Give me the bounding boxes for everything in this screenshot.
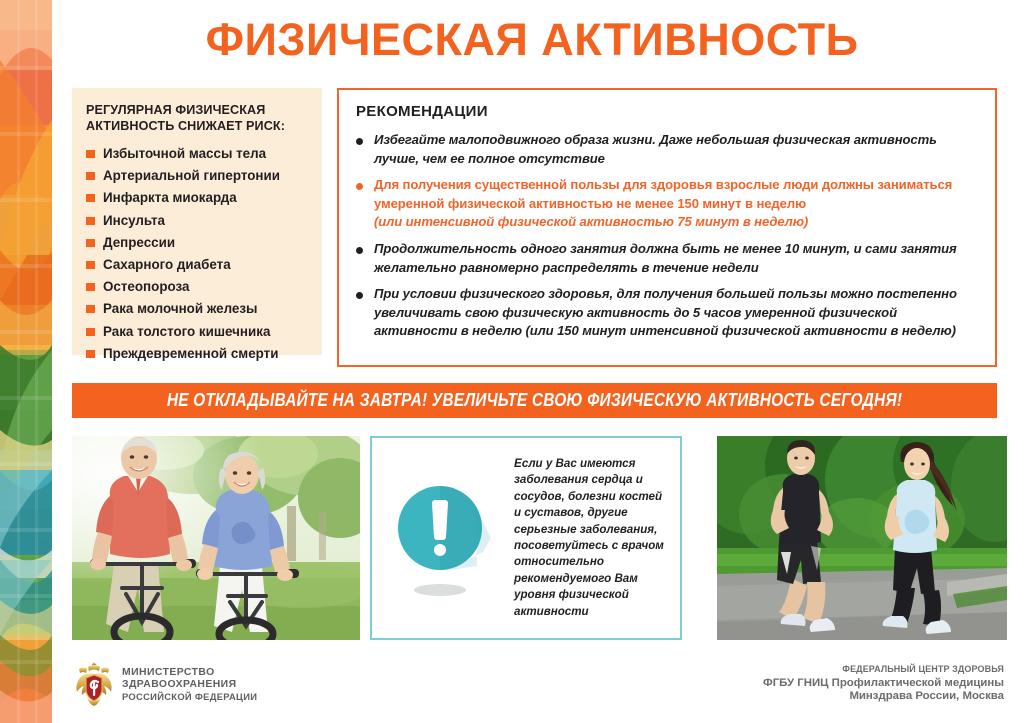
photo-couple-jogging xyxy=(717,436,1007,640)
recommendation-italic-note: (или интенсивной физической активностью … xyxy=(374,213,979,232)
list-item: Избыточной массы тела xyxy=(86,143,312,165)
list-item: Рака толстого кишечника xyxy=(86,321,312,343)
risk-list: Избыточной массы тела Артериальной гипер… xyxy=(86,143,312,365)
risk-item-label: Рака толстого кишечника xyxy=(103,321,270,343)
square-bullet-icon xyxy=(86,217,95,225)
round-bullet-icon xyxy=(356,247,363,254)
ministry-name: МИНИСТЕРСТВО ЗДРАВООХРАНЕНИЯ РОССИЙСКОЙ … xyxy=(122,667,257,704)
square-bullet-icon xyxy=(86,194,95,202)
call-to-action-banner: НЕ ОТКЛАДЫВАЙТЕ НА ЗАВТРА! УВЕЛИЧЬТЕ СВО… xyxy=(72,383,997,418)
recommendation-item: Продолжительность одного занятия должна … xyxy=(356,240,979,277)
medical-advice-callout: Если у Вас имеются заболевания сердца и … xyxy=(370,436,682,640)
round-bullet-icon xyxy=(356,183,363,190)
square-bullet-icon xyxy=(86,239,95,247)
list-item: Артериальной гипертонии xyxy=(86,165,312,187)
risk-item-label: Депрессии xyxy=(103,232,175,254)
credit-line-3: Минздрава России, Москва xyxy=(763,690,1004,704)
risk-item-label: Инфаркта миокарда xyxy=(103,187,237,209)
photo-senior-couple-cycling xyxy=(72,436,360,640)
recommendations-panel: РЕКОМЕНДАЦИИ Избегайте малоподвижного об… xyxy=(337,88,997,367)
list-item: Преждевременной смерти xyxy=(86,343,312,365)
list-item: Сахарного диабета xyxy=(86,254,312,276)
recommendation-main-text: Для получения существенной пользы для зд… xyxy=(374,177,952,211)
round-bullet-icon xyxy=(356,138,363,145)
list-item: Инфаркта миокарда xyxy=(86,187,312,209)
risk-item-label: Артериальной гипертонии xyxy=(103,165,280,187)
recommendation-text: Для получения существенной пользы для зд… xyxy=(374,176,979,232)
risk-item-label: Сахарного диабета xyxy=(103,254,231,276)
exclamation-circle-icon xyxy=(387,476,499,600)
round-bullet-icon xyxy=(356,292,363,299)
list-item: Депрессии xyxy=(86,232,312,254)
recommendation-text: При условии физического здоровья, для по… xyxy=(374,285,979,341)
square-bullet-icon xyxy=(86,350,95,358)
recommendation-item: Избегайте малоподвижного образа жизни. Д… xyxy=(356,131,979,168)
risk-item-label: Остеопороза xyxy=(103,276,189,298)
risk-item-label: Избыточной массы тела xyxy=(103,143,266,165)
ministry-line-1: МИНИСТЕРСТВО xyxy=(122,667,257,679)
risk-item-label: Преждевременной смерти xyxy=(103,343,278,365)
health-center-credit: ФЕДЕРАЛЬНЫЙ ЦЕНТР ЗДОРОВЬЯ ФГБУ ГНИЦ Про… xyxy=(763,663,1004,704)
list-item: Остеопороза xyxy=(86,276,312,298)
page-title: ФИЗИЧЕСКАЯ АКТИВНОСТЬ xyxy=(60,14,1004,66)
callout-icon-container xyxy=(372,476,514,600)
risk-item-label: Рака молочной железы xyxy=(103,298,257,320)
recommendation-text: Продолжительность одного занятия должна … xyxy=(374,240,979,277)
credit-line-2: ФГБУ ГНИЦ Профилактической медицины xyxy=(763,677,1004,691)
recommendation-text: Избегайте малоподвижного образа жизни. Д… xyxy=(374,131,979,168)
russian-federation-coat-of-arms-icon xyxy=(74,662,114,708)
callout-advice-text: Если у Вас имеются заболевания сердца и … xyxy=(514,456,680,620)
risk-item-label: Инсульта xyxy=(103,210,165,232)
ministry-line-2: ЗДРАВООХРАНЕНИЯ xyxy=(122,679,257,691)
decorative-edge-pattern xyxy=(0,0,52,723)
recommendations-heading: РЕКОМЕНДАЦИИ xyxy=(356,103,979,120)
square-bullet-icon xyxy=(86,283,95,291)
ministry-line-3: РОССИЙСКОЙ ФЕДЕРАЦИИ xyxy=(122,691,257,703)
square-bullet-icon xyxy=(86,172,95,180)
square-bullet-icon xyxy=(86,305,95,313)
call-to-action-text: НЕ ОТКЛАДЫВАЙТЕ НА ЗАВТРА! УВЕЛИЧЬТЕ СВО… xyxy=(167,390,902,411)
square-bullet-icon xyxy=(86,261,95,269)
risk-reduction-panel: РЕГУЛЯРНАЯ ФИЗИЧЕСКАЯ АКТИВНОСТЬ СНИЖАЕТ… xyxy=(72,88,322,355)
list-item: Рака молочной железы xyxy=(86,298,312,320)
square-bullet-icon xyxy=(86,150,95,158)
square-bullet-icon xyxy=(86,328,95,336)
recommendation-item: При условии физического здоровья, для по… xyxy=(356,285,979,341)
risk-panel-heading: РЕГУЛЯРНАЯ ФИЗИЧЕСКАЯ АКТИВНОСТЬ СНИЖАЕТ… xyxy=(86,102,312,134)
list-item: Инсульта xyxy=(86,210,312,232)
credit-line-1: ФЕДЕРАЛЬНЫЙ ЦЕНТР ЗДОРОВЬЯ xyxy=(763,663,1004,677)
recommendation-item-highlighted: Для получения существенной пользы для зд… xyxy=(356,176,979,232)
